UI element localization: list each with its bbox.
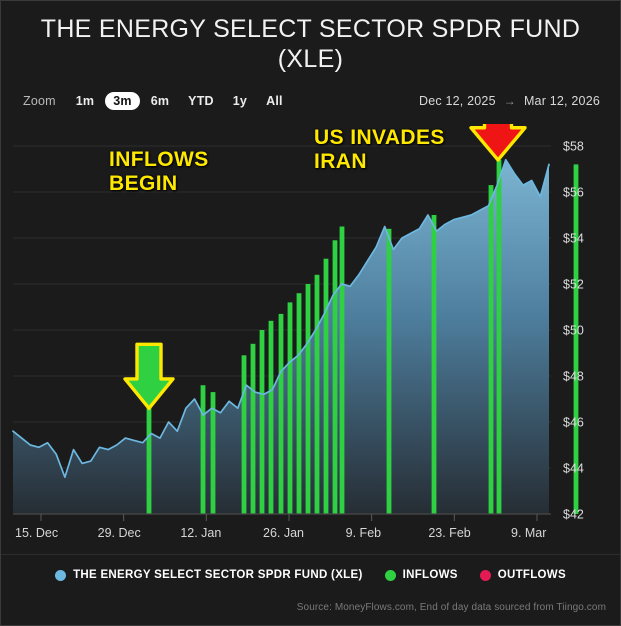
inflow-bar — [201, 385, 206, 514]
x-axis-tick-label: 26. Jan — [263, 526, 304, 540]
range-button-1y[interactable]: 1y — [225, 92, 255, 111]
y-axis-tick-label: $48 — [563, 370, 584, 384]
y-axis-tick-label: $54 — [563, 232, 584, 246]
legend-item-outflows[interactable]: OUTFLOWS — [480, 569, 566, 581]
inflow-bar — [387, 229, 392, 514]
legend-label: INFLOWS — [403, 569, 458, 581]
inflow-bar — [251, 344, 256, 514]
legend-item-inflows[interactable]: INFLOWS — [385, 569, 458, 581]
inflow-bar — [497, 160, 502, 514]
range-button-all[interactable]: All — [258, 92, 291, 111]
range-button-group: 1m3m6mYTD1yAll — [68, 92, 294, 111]
legend-swatch-icon — [55, 570, 66, 581]
y-axis-tick-label: $58 — [563, 140, 584, 154]
inflow-bar — [147, 408, 152, 514]
x-axis-tick-label: 9. Feb — [346, 526, 381, 540]
date-range-end: Mar 12, 2026 — [524, 94, 600, 108]
source-text: Source: MoneyFlows.com, End of day data … — [297, 602, 606, 613]
x-axis-tick-label: 15. Dec — [15, 526, 58, 540]
inflow-bar — [489, 185, 494, 514]
chart-card: THE ENERGY SELECT SECTOR SPDR FUND (XLE)… — [0, 0, 621, 626]
y-axis-tick-label: $56 — [563, 186, 584, 200]
x-axis-tick-label: 23. Feb — [428, 526, 470, 540]
chart-header: THE ENERGY SELECT SECTOR SPDR FUND (XLE) — [1, 1, 620, 74]
inflow-bar — [333, 240, 338, 514]
inflow-bar — [432, 215, 437, 514]
inflow-bar — [297, 293, 302, 514]
inflow-bar — [269, 321, 274, 514]
legend-item-xle[interactable]: THE ENERGY SELECT SECTOR SPDR FUND (XLE) — [55, 569, 363, 581]
zoom-label: Zoom — [23, 94, 56, 108]
y-axis-tick-label: $42 — [563, 508, 584, 522]
legend-label: OUTFLOWS — [498, 569, 566, 581]
inflow-bar — [306, 284, 311, 514]
date-range: Dec 12, 2025 → Mar 12, 2026 — [419, 94, 600, 108]
range-button-6m[interactable]: 6m — [143, 92, 177, 111]
zoom-toolbar: Zoom 1m3m6mYTD1yAll Dec 12, 2025 → Mar 1… — [1, 88, 620, 114]
inflow-bar — [340, 227, 345, 515]
y-axis-tick-label: $46 — [563, 416, 584, 430]
x-axis-tick-label: 29. Dec — [98, 526, 141, 540]
plot-area[interactable]: $58$56$54$52$50$48$46$44$42 15. Dec29. D… — [1, 124, 621, 552]
date-range-start: Dec 12, 2025 — [419, 94, 496, 108]
y-axis: $58$56$54$52$50$48$46$44$42 — [563, 140, 584, 522]
inflow-bar — [260, 330, 265, 514]
inflow-bar — [324, 259, 329, 514]
source-row: Source: MoneyFlows.com, End of day data … — [1, 588, 620, 615]
legend-label: THE ENERGY SELECT SECTOR SPDR FUND (XLE) — [73, 569, 363, 581]
y-axis-tick-label: $50 — [563, 324, 584, 338]
arrow-right-icon: → — [504, 94, 516, 108]
inflow-bar — [315, 275, 320, 514]
y-axis-tick-label: $52 — [563, 278, 584, 292]
range-button-ytd[interactable]: YTD — [180, 92, 222, 111]
x-axis-tick-label: 9. Mar — [511, 526, 546, 540]
x-axis-tick-label: 12. Jan — [180, 526, 221, 540]
y-axis-tick-label: $44 — [563, 462, 584, 476]
inflow-bar — [288, 302, 293, 514]
range-button-3m[interactable]: 3m — [105, 92, 139, 111]
legend-swatch-icon — [385, 570, 396, 581]
price-chart-svg[interactable]: $58$56$54$52$50$48$46$44$42 15. Dec29. D… — [1, 124, 621, 552]
inflow-bar — [279, 314, 284, 514]
page-title: THE ENERGY SELECT SECTOR SPDR FUND (XLE) — [19, 15, 602, 74]
legend-swatch-icon — [480, 570, 491, 581]
inflow-bar — [242, 355, 247, 514]
range-button-1m[interactable]: 1m — [68, 92, 102, 111]
chart-legend: THE ENERGY SELECT SECTOR SPDR FUND (XLE)… — [1, 554, 620, 588]
